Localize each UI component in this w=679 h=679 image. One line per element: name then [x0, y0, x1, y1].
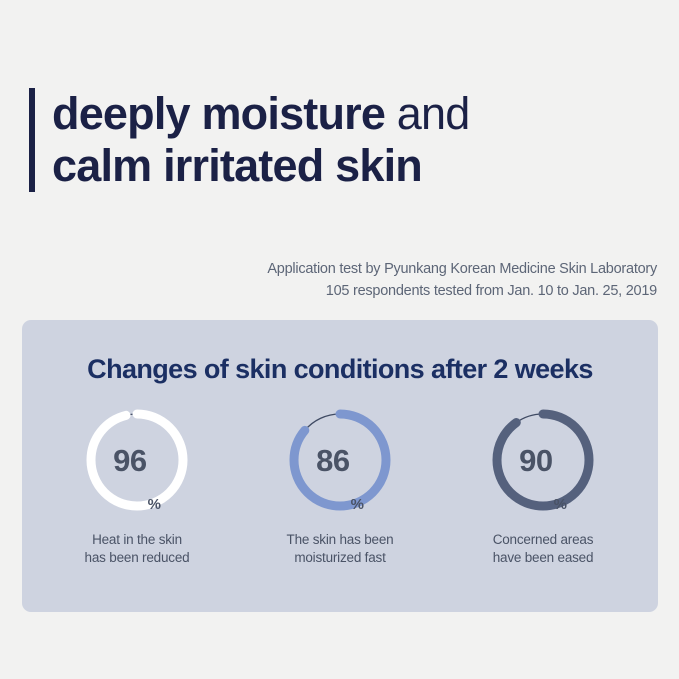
donut-svg-1: [285, 405, 395, 515]
headline-line-1: deeply moisture and: [52, 88, 470, 140]
panel-title: Changes of skin conditions after 2 weeks: [22, 354, 658, 385]
stat-label-1-line-2: moisturized fast: [287, 549, 394, 567]
donut-svg-2: [488, 405, 598, 515]
donut-arc-0: [91, 414, 183, 506]
stat-item: 90 % Concerned areas have been eased: [456, 405, 631, 567]
accent-bar: [29, 88, 35, 192]
donut-stats-row: 96 % Heat in the skin has been reduced: [22, 405, 658, 567]
stat-item: 86 % The skin has been moisturized fast: [253, 405, 428, 567]
stat-label-2-line-1: Concerned areas: [493, 531, 594, 549]
stat-label-2: Concerned areas have been eased: [493, 531, 594, 567]
donut-chart-1: 86 %: [285, 405, 395, 515]
stat-label-0-line-1: Heat in the skin: [85, 531, 190, 549]
study-attribution-line-2: 105 respondents tested from Jan. 10 to J…: [267, 280, 657, 302]
stat-label-0: Heat in the skin has been reduced: [85, 531, 190, 567]
stat-label-0-line-2: has been reduced: [85, 549, 190, 567]
headline-lines: deeply moisture and calm irritated skin: [52, 88, 470, 192]
headline-line-1-light: and: [385, 88, 469, 139]
donut-chart-0: 96 %: [82, 405, 192, 515]
donut-arc-2: [497, 414, 589, 506]
results-panel: Changes of skin conditions after 2 weeks…: [22, 320, 658, 612]
donut-chart-2: 90 %: [488, 405, 598, 515]
donut-arc-1: [294, 414, 386, 506]
stat-item: 96 % Heat in the skin has been reduced: [50, 405, 225, 567]
promo-infographic: deeply moisture and calm irritated skin …: [0, 0, 679, 679]
stat-label-2-line-2: have been eased: [493, 549, 594, 567]
headline-line-2: calm irritated skin: [52, 140, 470, 192]
study-attribution: Application test by Pyunkang Korean Medi…: [267, 258, 657, 302]
headline: deeply moisture and calm irritated skin: [29, 88, 470, 192]
study-attribution-line-1: Application test by Pyunkang Korean Medi…: [267, 258, 657, 280]
donut-svg-0: [82, 405, 192, 515]
headline-line-1-strong: deeply moisture: [52, 88, 385, 139]
stat-label-1: The skin has been moisturized fast: [287, 531, 394, 567]
stat-label-1-line-1: The skin has been: [287, 531, 394, 549]
